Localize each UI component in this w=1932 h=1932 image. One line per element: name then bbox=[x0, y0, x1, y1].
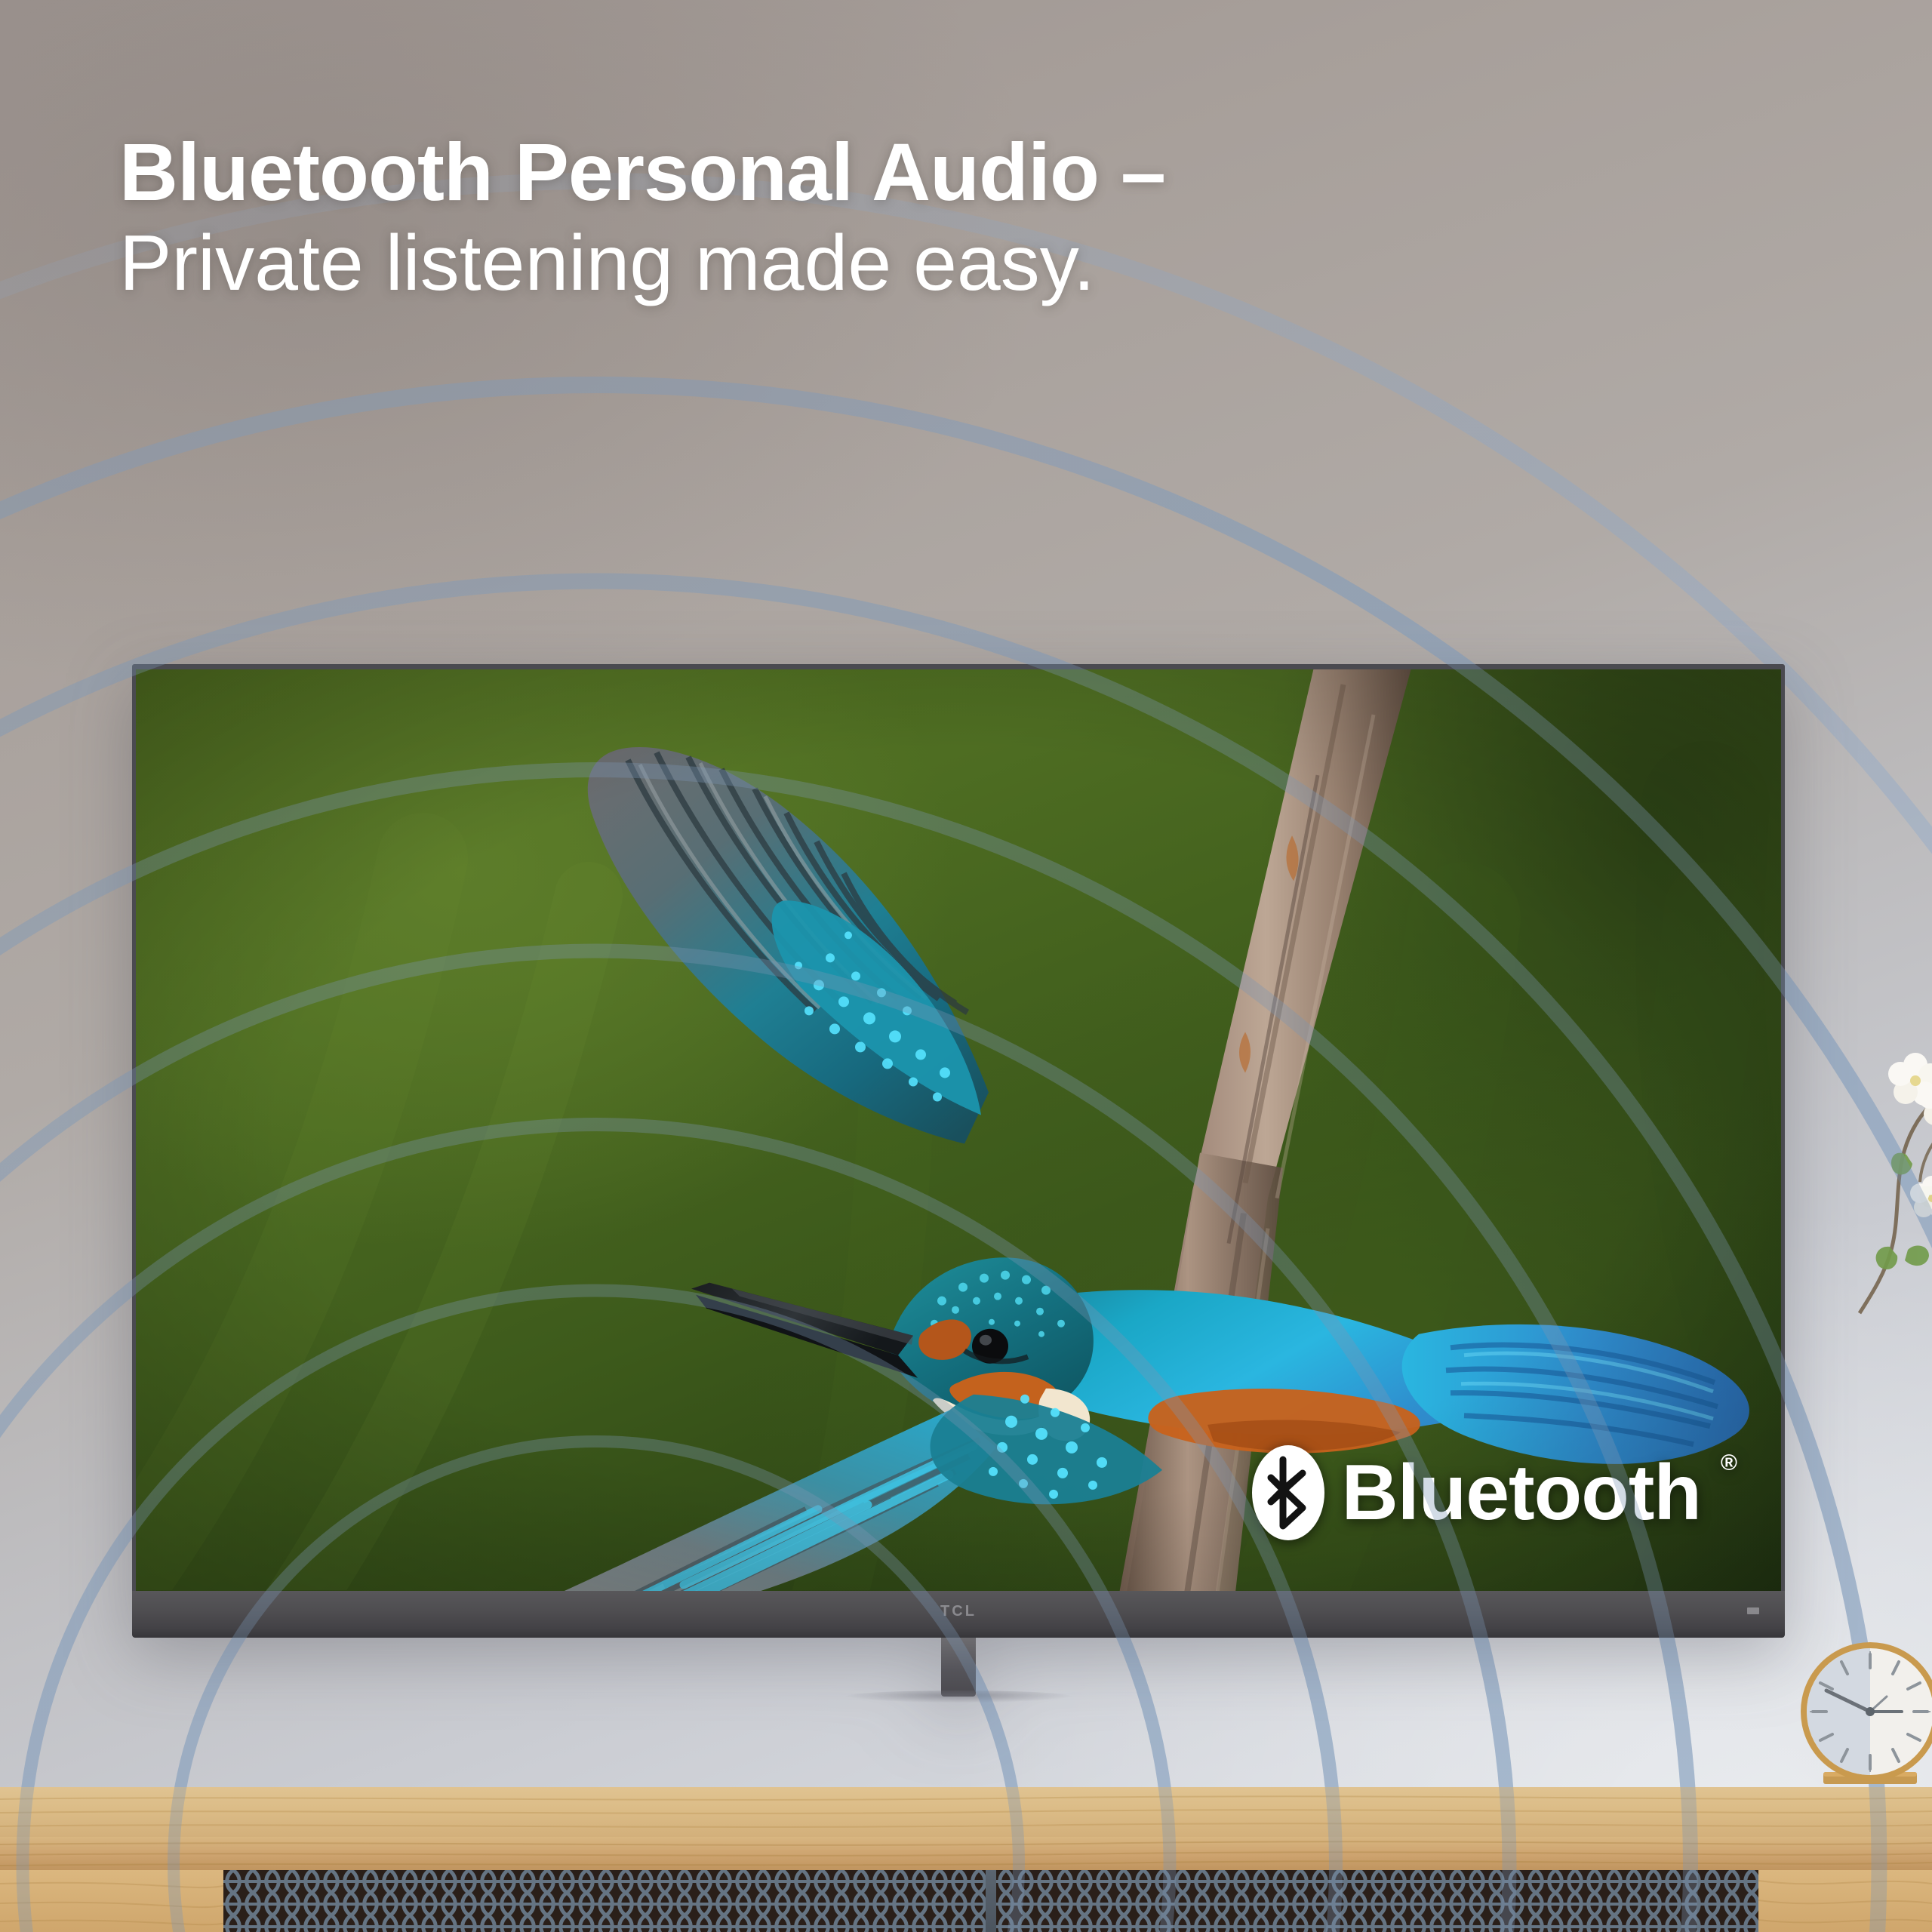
tv-stand-neck bbox=[941, 1638, 976, 1697]
bluetooth-registered-mark: ® bbox=[1721, 1451, 1737, 1476]
headline-line-2: Private listening made easy. bbox=[119, 218, 1553, 309]
console-edge-woodgrain bbox=[0, 1837, 1932, 1870]
cabinet-door-right[interactable] bbox=[996, 1870, 1758, 1932]
tv-brand-logo: TCL bbox=[940, 1603, 977, 1620]
media-console bbox=[0, 1787, 1932, 1932]
cabinet-center-divider bbox=[986, 1870, 996, 1932]
bluetooth-wordmark: Bluetooth bbox=[1342, 1454, 1701, 1532]
wall-clock bbox=[1796, 1639, 1932, 1798]
console-top-surface bbox=[0, 1787, 1932, 1837]
screen-scene-kingfisher: Bluetooth ® bbox=[136, 669, 1781, 1591]
headline-block: Bluetooth Personal Audio – Private liste… bbox=[119, 127, 1553, 309]
tv-stand-shadow bbox=[845, 1690, 1072, 1703]
tv-bottom-bezel: TCL bbox=[132, 1591, 1785, 1638]
console-top-woodgrain bbox=[0, 1787, 1932, 1837]
poster-canvas: Bluetooth Personal Audio – Private liste… bbox=[0, 0, 1932, 1932]
cabinet-lattice-pattern-right bbox=[996, 1870, 1758, 1932]
bluetooth-rune-icon bbox=[1251, 1444, 1325, 1541]
cabinet-door-left[interactable] bbox=[223, 1870, 986, 1932]
tv-ir-sensor bbox=[1747, 1607, 1759, 1614]
bluetooth-badge: Bluetooth ® bbox=[1251, 1444, 1737, 1541]
headline-line-1: Bluetooth Personal Audio – bbox=[119, 127, 1553, 218]
console-front-edge bbox=[0, 1837, 1932, 1870]
tv-screen[interactable]: Bluetooth ® bbox=[136, 669, 1781, 1591]
tv-panel-frame: Bluetooth ® bbox=[132, 664, 1785, 1591]
blossom-branch bbox=[1810, 906, 1932, 1389]
television[interactable]: Bluetooth ® TCL bbox=[132, 664, 1785, 1638]
cabinet-lattice-pattern-left bbox=[223, 1870, 986, 1932]
